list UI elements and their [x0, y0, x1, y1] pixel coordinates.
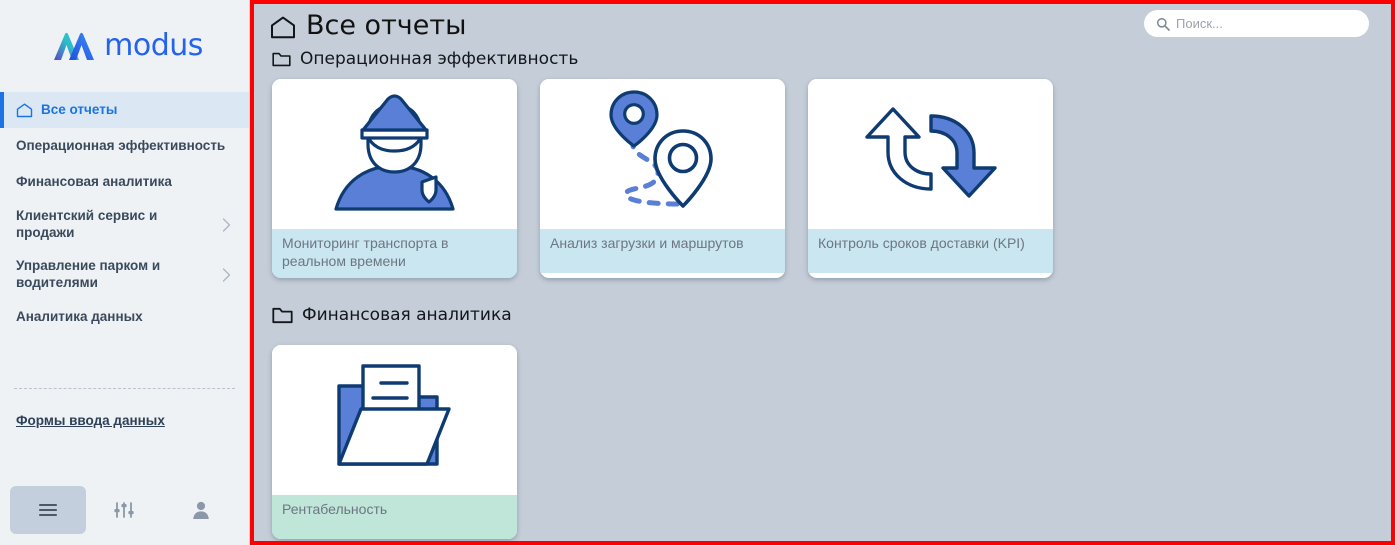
- sidebar-item-fleet-drivers[interactable]: Управление парком и водителями: [0, 250, 249, 300]
- section-header-operational: Операционная эффективность: [254, 45, 1391, 73]
- cycle-arrows-icon: [855, 90, 1007, 218]
- filters-icon: [113, 500, 135, 520]
- brand-logo[interactable]: modus: [0, 0, 249, 92]
- sidebar-spacer: [0, 336, 249, 389]
- map-route-pins-icon: [588, 88, 738, 220]
- brand-name: modus: [104, 31, 203, 61]
- sidebar-item-label: Финансовая аналитика: [16, 174, 231, 191]
- report-card[interactable]: Мониторинг транспорта в реальном времени: [272, 79, 517, 278]
- folder-document-icon: [325, 354, 465, 486]
- sidebar-item-operational-efficiency[interactable]: Операционная эффективность: [0, 128, 249, 164]
- sidebar-item-data-analytics[interactable]: Аналитика данных: [0, 300, 249, 336]
- report-card[interactable]: Анализ загрузки и маршрутов: [540, 79, 785, 278]
- card-artwork: [540, 79, 785, 229]
- folder-icon: [272, 306, 293, 324]
- home-icon: [16, 103, 33, 118]
- user-profile-button[interactable]: [163, 486, 239, 534]
- sidebar-item-client-service-sales[interactable]: Клиентский сервис и продажи: [0, 200, 249, 250]
- card-artwork: [808, 79, 1053, 229]
- card-artwork: [272, 345, 517, 495]
- sidebar-item-all-reports[interactable]: Все отчеты: [0, 92, 249, 128]
- section-title: Финансовая аналитика: [302, 305, 512, 325]
- cards-row-operational: Мониторинг транспорта в реальном времени: [254, 73, 1391, 278]
- sidebar-item-label: Аналитика данных: [16, 309, 231, 326]
- search-icon: [1156, 17, 1170, 31]
- search-input[interactable]: [1176, 16, 1357, 31]
- sidebar-item-label: Управление парком и водителями: [16, 258, 214, 292]
- card-caption: Мониторинг транспорта в реальном времени: [272, 229, 517, 278]
- sidebar-nav: Все отчеты Операционная эффективность Фи…: [0, 92, 249, 336]
- card-caption: Рентабельность: [272, 495, 517, 539]
- sidebar-bottom-bar: [0, 481, 249, 545]
- card-artwork: [272, 79, 517, 229]
- sidebar-item-financial-analytics[interactable]: Финансовая аналитика: [0, 164, 249, 200]
- sidebar-item-label: Операционная эффективность: [16, 138, 231, 155]
- chevron-right-icon: [222, 218, 231, 232]
- report-card[interactable]: Рентабельность: [272, 345, 517, 539]
- app-root: modus Все отчеты Операционная эффективно…: [0, 0, 1395, 545]
- section-header-financial: Финансовая аналитика: [254, 298, 1391, 332]
- report-card[interactable]: Контроль сроков доставки (KPI): [808, 79, 1053, 278]
- sidebar-spacer-bottom: [0, 428, 249, 481]
- sidebar-item-label: Все отчеты: [41, 102, 231, 119]
- cards-row-financial: Рентабельность: [254, 339, 1391, 539]
- filters-button[interactable]: [86, 486, 162, 534]
- menu-icon: [37, 502, 59, 518]
- search-box[interactable]: [1144, 10, 1369, 37]
- page-title: Все отчеты: [306, 10, 466, 41]
- sidebar: modus Все отчеты Операционная эффективно…: [0, 0, 250, 545]
- main-content-area: Все отчеты Операционная эффективность: [250, 0, 1395, 545]
- card-caption: Анализ загрузки и маршрутов: [540, 229, 785, 273]
- chevron-right-icon: [222, 268, 231, 282]
- driver-officer-icon: [322, 89, 467, 219]
- home-icon: [270, 16, 296, 39]
- modus-m-logo-icon: [52, 31, 96, 61]
- menu-button[interactable]: [10, 486, 86, 534]
- user-icon: [191, 500, 211, 520]
- forms-input-link[interactable]: Формы ввода данных: [0, 389, 249, 428]
- folder-icon: [272, 51, 291, 67]
- card-caption: Контроль сроков доставки (KPI): [808, 229, 1053, 273]
- section-title: Операционная эффективность: [300, 49, 578, 69]
- sidebar-item-label: Клиентский сервис и продажи: [16, 208, 214, 242]
